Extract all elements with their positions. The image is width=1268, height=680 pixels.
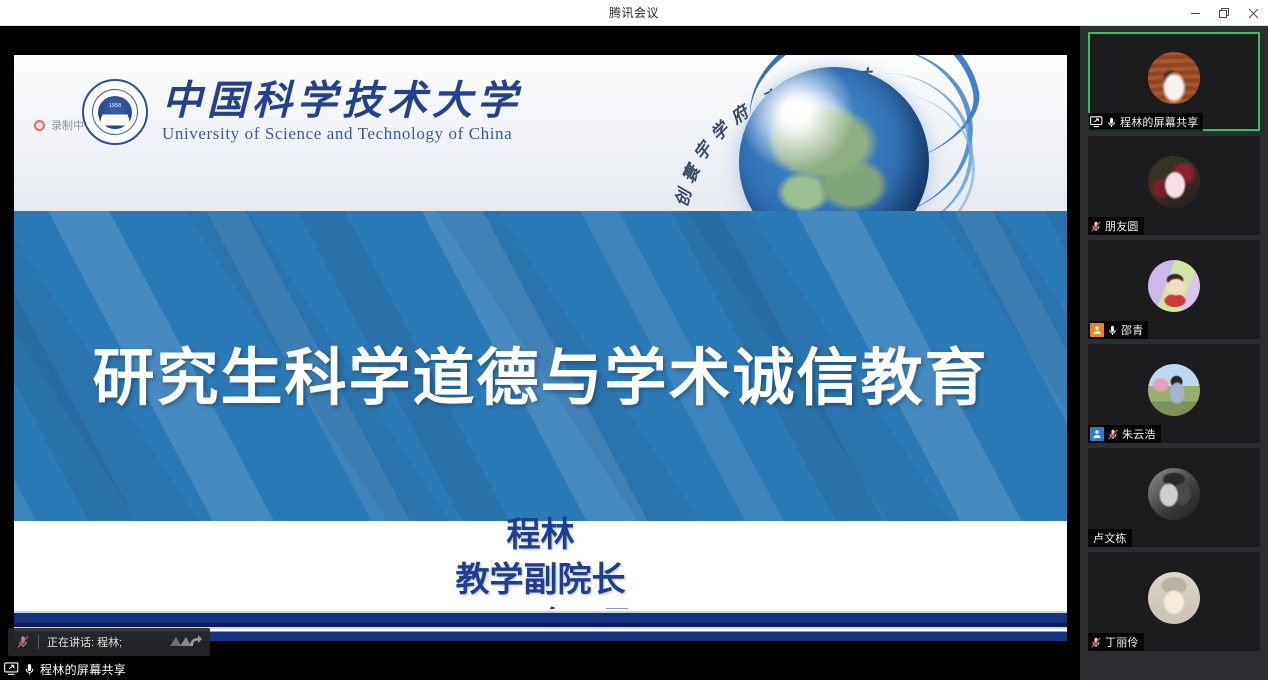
- motto-char: 学: [704, 116, 734, 146]
- speaking-toast: 正在讲话: 程林;: [8, 628, 210, 656]
- minimize-button[interactable]: [1181, 0, 1210, 26]
- close-icon: [1248, 8, 1259, 19]
- tile-footer: 朋友圆: [1088, 217, 1144, 235]
- avatar: [1148, 468, 1200, 520]
- avatar: [1148, 260, 1200, 312]
- participant-name: 丁丽伶: [1105, 634, 1139, 650]
- mic-muted-icon: [1090, 220, 1102, 233]
- presenter-role: 教学副院长: [14, 558, 1067, 603]
- university-name-block: 中国科学技术大学 University of Science and Techn…: [162, 80, 522, 144]
- participant-rail[interactable]: 程林的屏幕共享 朋友圆: [1080, 26, 1268, 680]
- app-title: 腾讯会议: [609, 4, 659, 21]
- screen-share-icon: [4, 662, 19, 676]
- host-badge-icon: [1090, 323, 1104, 337]
- close-button[interactable]: [1239, 0, 1268, 26]
- restore-icon: [1219, 8, 1230, 19]
- participant-tile[interactable]: 邵青: [1088, 240, 1260, 339]
- mic-icon: [23, 662, 36, 677]
- screen-share-icon: [1090, 116, 1103, 128]
- minimize-icon: [1190, 8, 1201, 19]
- tile-footer: 程林的屏幕共享: [1088, 113, 1203, 131]
- mic-muted-icon: [1107, 428, 1119, 441]
- slide-header: 创 寰 宇 学 府 育 天 下 英 才 19: [14, 55, 1067, 211]
- mic-muted-icon: [16, 635, 30, 649]
- speaking-label: 正在讲话: 程林;: [47, 634, 122, 650]
- mic-icon: [1107, 324, 1118, 337]
- participant-name: 朋友圆: [1105, 218, 1139, 234]
- shared-screen-stage: 创 寰 宇 学 府 育 天 下 英 才 19: [0, 26, 1080, 680]
- participant-name: 卢文栋: [1093, 530, 1127, 546]
- globe-artwork: 创 寰 宇 学 府 育 天 下 英 才: [597, 55, 1027, 211]
- recording-indicator: 录制中: [32, 116, 92, 134]
- university-logo: 1958 中国科学技术大学 University of Science and …: [82, 79, 522, 145]
- restore-button[interactable]: [1210, 0, 1239, 26]
- participant-tile[interactable]: 朋友圆: [1088, 136, 1260, 235]
- recording-label: 录制中: [51, 117, 84, 133]
- tile-footer: 丁丽伶: [1088, 633, 1144, 651]
- presentation-slide: 创 寰 宇 学 府 育 天 下 英 才 19: [14, 55, 1067, 641]
- participant-name: 朱云浩: [1122, 426, 1156, 442]
- tile-footer: 邵青: [1088, 321, 1148, 339]
- tile-footer: 朱云浩: [1088, 425, 1161, 443]
- screen-share-label: 程林的屏幕共享: [40, 661, 126, 678]
- mic-muted-icon: [1090, 636, 1102, 649]
- university-name-cn: 中国科学技术大学: [162, 80, 522, 122]
- participant-name: 程林的屏幕共享: [1120, 114, 1198, 130]
- window-title-bar: 腾讯会议: [0, 0, 1268, 26]
- slide-title: 研究生科学道德与学术诚信教育: [14, 327, 1067, 417]
- presenter-name: 程林: [14, 513, 1067, 558]
- avatar: [1148, 572, 1200, 624]
- avatar: [1148, 156, 1200, 208]
- toast-divider: [38, 635, 39, 649]
- avatar: [1148, 364, 1200, 416]
- emblem-book-shape: [101, 116, 129, 125]
- motto-char: 创: [667, 186, 696, 209]
- participant-tile[interactable]: 丁丽伶: [1088, 552, 1260, 651]
- participant-tile[interactable]: 朱云浩: [1088, 344, 1260, 443]
- cohost-badge-icon: [1090, 427, 1104, 441]
- slide-title-banner: 研究生科学道德与学术诚信教育: [14, 211, 1067, 521]
- emblem-year: 1958: [109, 103, 121, 109]
- tile-footer: 卢文栋: [1088, 529, 1132, 547]
- screen-share-status-bar: 程林的屏幕共享: [0, 658, 1080, 680]
- participant-tile[interactable]: 卢文栋: [1088, 448, 1260, 547]
- participant-tile[interactable]: 程林的屏幕共享: [1088, 32, 1260, 131]
- slide-presenter-block: 程林 教学副院长 2022年9月: [14, 521, 1067, 609]
- window-controls: [1181, 0, 1268, 26]
- record-circle-icon: [34, 120, 45, 131]
- reply-arrows-icon: [168, 634, 202, 650]
- avatar: [1148, 52, 1200, 104]
- participant-name: 邵青: [1121, 322, 1143, 338]
- mic-icon: [1106, 116, 1117, 129]
- motto-char: 寰: [675, 160, 705, 186]
- university-name-en: University of Science and Technology of …: [162, 124, 522, 144]
- usc-emblem-icon: 1958: [82, 79, 148, 145]
- motto-char: 宇: [686, 136, 716, 164]
